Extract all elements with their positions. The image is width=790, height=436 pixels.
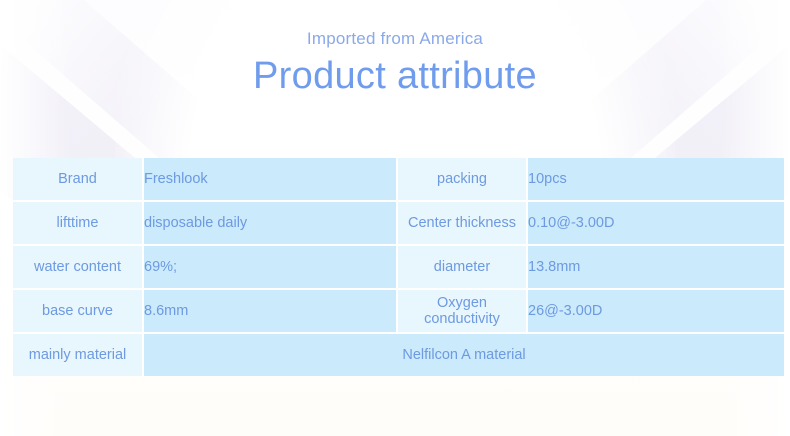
- attribute-value-merged: Nelfilcon A material: [144, 334, 784, 376]
- table-row: base curve 8.6mm Oxygen conductivity 26@…: [13, 290, 784, 334]
- attribute-value: Freshlook: [144, 158, 398, 202]
- attribute-label: mainly material: [13, 334, 144, 376]
- attribute-value: 13.8mm: [528, 246, 784, 290]
- attribute-value: disposable daily: [144, 202, 398, 246]
- page-subtitle: Imported from America: [0, 28, 790, 50]
- product-attribute-table: Brand Freshlook packing 10pcs lifttime d…: [13, 158, 784, 376]
- attribute-label: diameter: [398, 246, 528, 290]
- attribute-label: Center thickness: [398, 202, 528, 246]
- attribute-value: 8.6mm: [144, 290, 398, 334]
- attribute-value: 10pcs: [528, 158, 784, 202]
- page-header: Imported from America Product attribute: [0, 28, 790, 100]
- page-title: Product attribute: [0, 52, 790, 100]
- table-row: water content 69%; diameter 13.8mm: [13, 246, 784, 290]
- attribute-label: packing: [398, 158, 528, 202]
- table-row: Brand Freshlook packing 10pcs: [13, 158, 784, 202]
- attribute-label: base curve: [13, 290, 144, 334]
- attribute-label: water content: [13, 246, 144, 290]
- attribute-label: Brand: [13, 158, 144, 202]
- attribute-value: 26@-3.00D: [528, 290, 784, 334]
- attribute-value: 0.10@-3.00D: [528, 202, 784, 246]
- table-row: lifttime disposable daily Center thickne…: [13, 202, 784, 246]
- table-row-merged: mainly material Nelfilcon A material: [13, 334, 784, 376]
- attribute-value: 69%;: [144, 246, 398, 290]
- attribute-label: lifttime: [13, 202, 144, 246]
- attribute-label: Oxygen conductivity: [398, 290, 528, 334]
